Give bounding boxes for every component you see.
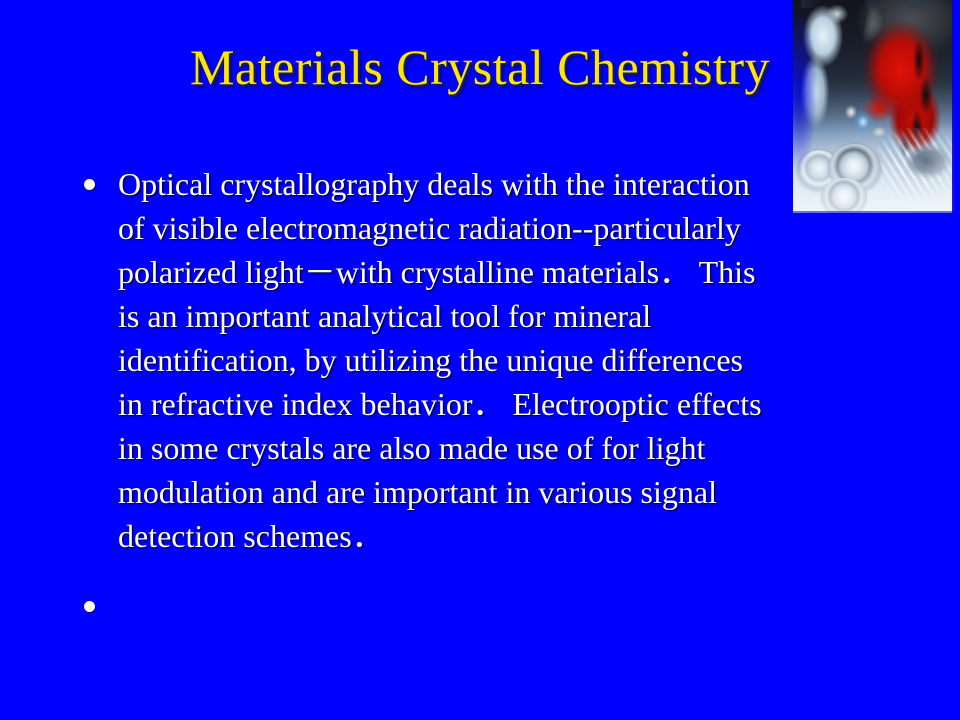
presentation-slide: Materials Crystal Chemistry Optical crys… [0, 0, 960, 720]
bullet-dot-icon [84, 601, 95, 612]
slide-body: Optical crystallography deals with the i… [74, 162, 904, 630]
bullet-dot-icon [84, 179, 95, 190]
machinery-collage-image [793, 0, 954, 213]
bullet-text: Optical crystallography deals with the i… [118, 162, 904, 558]
list-item-empty [74, 586, 904, 630]
list-item: Optical crystallography deals with the i… [74, 162, 904, 558]
collage-edge-border [793, 0, 954, 213]
